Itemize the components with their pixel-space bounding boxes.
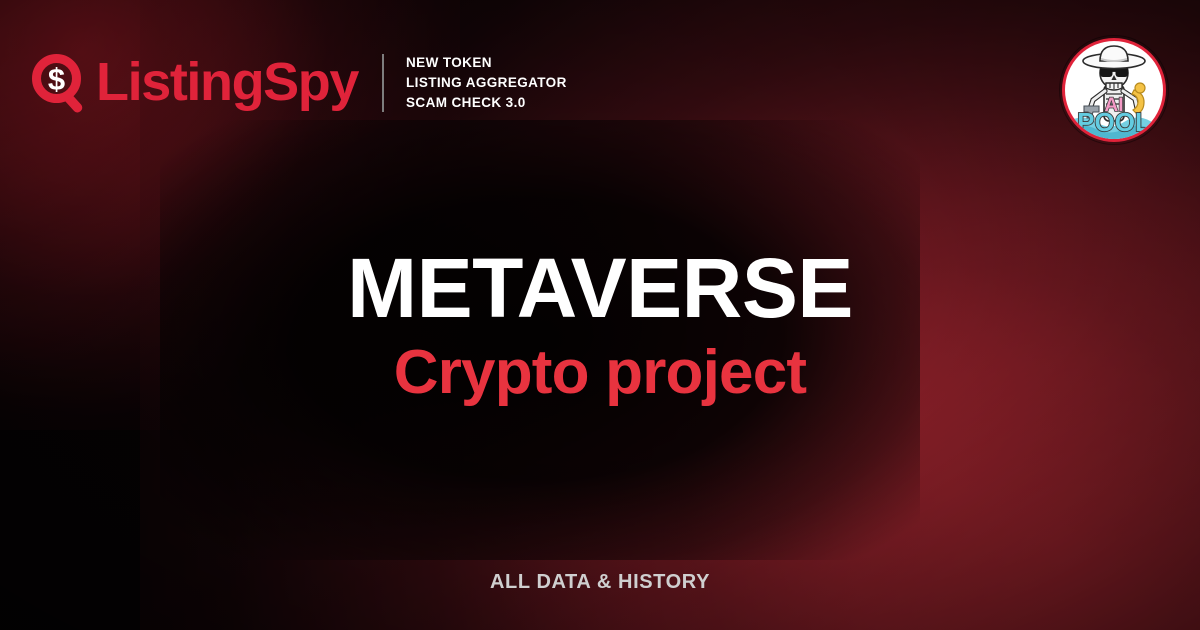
footer-text: ALL DATA & HISTORY (0, 571, 1200, 594)
brand-logo[interactable]: $ ListingSpy NEW TOKEN LISTING AGGREGATO… (32, 52, 567, 114)
tagline-line-3: SCAM CHECK 3.0 (406, 93, 567, 113)
ai-pool-avatar-image: AI POOL (1060, 36, 1168, 144)
promo-banner: $ ListingSpy NEW TOKEN LISTING AGGREGATO… (0, 0, 1200, 630)
tagline-line-2: LISTING AGGREGATOR (406, 73, 567, 93)
avatar[interactable]: AI POOL (1060, 36, 1168, 144)
page-subtitle: Crypto project (0, 342, 1200, 404)
magnifier-dollar-icon: $ (32, 54, 90, 116)
svg-text:$: $ (48, 62, 65, 97)
tagline-line-1: NEW TOKEN (406, 53, 567, 73)
brand-divider (382, 54, 384, 112)
hero-text-block: METAVERSE Crypto project (0, 246, 1200, 404)
footer: ALL DATA & HISTORY (0, 571, 1200, 594)
brand-tagline: NEW TOKEN LISTING AGGREGATOR SCAM CHECK … (406, 53, 567, 113)
page-title: METAVERSE (0, 246, 1200, 330)
brand-name: ListingSpy (96, 55, 358, 109)
